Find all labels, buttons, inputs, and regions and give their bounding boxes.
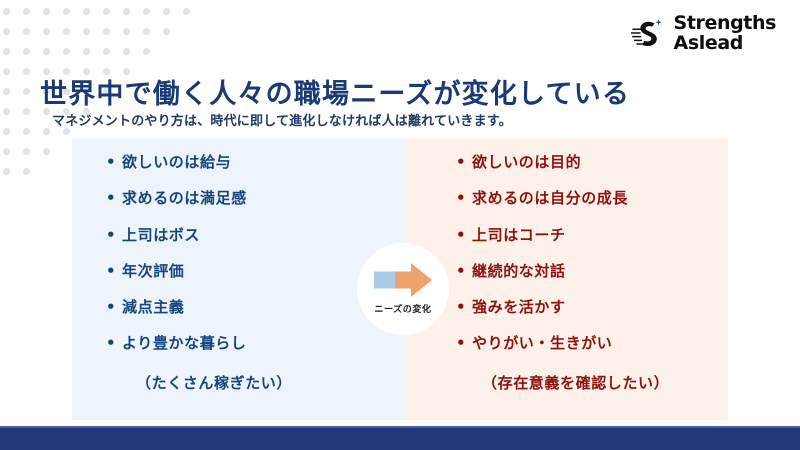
grid-dot xyxy=(23,68,30,75)
grid-dot xyxy=(43,148,50,155)
list-item: •やりがい・生きがい xyxy=(456,335,728,352)
brand-wordmark: Strengths Aslead xyxy=(674,14,776,54)
right-arrow-icon xyxy=(374,263,432,297)
grid-dot xyxy=(163,8,170,15)
list-item-label: 減点主義 xyxy=(122,299,184,316)
grid-dot xyxy=(123,8,130,15)
grid-dot xyxy=(63,128,70,135)
grid-dot xyxy=(23,168,30,175)
grid-dot xyxy=(3,28,10,35)
grid-dot xyxy=(3,88,10,95)
list-item-label: 上司はコーチ xyxy=(472,227,566,244)
bullet-dot-icon: • xyxy=(456,154,472,171)
list-item: •継続的な対話 xyxy=(456,263,728,280)
list-item: •欲しいのは給与 xyxy=(106,154,406,171)
brand-name-line2: Aslead xyxy=(674,34,776,54)
panel-after: •欲しいのは目的•求めるのは自分の成長•上司はコーチ•継続的な対話•強みを活かす… xyxy=(406,138,728,420)
bullet-dot-icon: • xyxy=(456,227,472,244)
grid-dot xyxy=(163,28,170,35)
grid-dot xyxy=(23,88,30,95)
grid-dot xyxy=(23,48,30,55)
list-item: •より豊かな暮らし xyxy=(106,335,406,352)
grid-dot xyxy=(123,28,130,35)
list-item-label: 欲しいのは給与 xyxy=(122,154,231,171)
grid-dot xyxy=(3,148,10,155)
bullet-dot-icon: • xyxy=(106,263,122,280)
list-item: •求めるのは満足感 xyxy=(106,190,406,207)
grid-dot xyxy=(23,128,30,135)
page-title: 世界中で働く人々の職場ニーズが変化している xyxy=(40,72,630,111)
bullet-dot-icon: • xyxy=(106,335,122,352)
grid-dot xyxy=(103,48,110,55)
slide-canvas: Strengths Aslead 世界中で働く人々の職場ニーズが変化している マ… xyxy=(0,0,800,450)
grid-dot xyxy=(3,48,10,55)
bullet-dot-icon: • xyxy=(456,335,472,352)
grid-dot xyxy=(43,48,50,55)
grid-dot xyxy=(23,108,30,115)
grid-dot xyxy=(23,148,30,155)
list-item-label: 継続的な対話 xyxy=(472,263,566,280)
grid-dot xyxy=(3,108,10,115)
grid-dot xyxy=(43,28,50,35)
list-item: •上司はコーチ xyxy=(456,227,728,244)
list-item-label: やりがい・生きがい xyxy=(472,335,612,352)
bullet-dot-icon: • xyxy=(456,263,472,280)
grid-dot xyxy=(3,128,10,135)
grid-dot xyxy=(3,68,10,75)
list-item-label: より豊かな暮らし xyxy=(122,335,247,352)
grid-dot xyxy=(63,48,70,55)
after-bullet-list: •欲しいのは目的•求めるのは自分の成長•上司はコーチ•継続的な対話•強みを活かす… xyxy=(456,154,728,353)
panel-before: •欲しいのは給与•求めるのは満足感•上司はボス•年次評価•減点主義•より豊かな暮… xyxy=(72,138,406,420)
grid-dot xyxy=(143,48,150,55)
grid-dot xyxy=(23,8,30,15)
grid-dot xyxy=(143,8,150,15)
brand-logo: Strengths Aslead xyxy=(629,14,776,54)
bullet-dot-icon: • xyxy=(106,227,122,244)
grid-dot xyxy=(143,28,150,35)
list-item: •欲しいのは目的 xyxy=(456,154,728,171)
page-subtitle: マネジメントのやり方は、時代に即して進化しなければ人は離れていきます。 xyxy=(52,110,512,129)
bullet-dot-icon: • xyxy=(106,190,122,207)
list-item: •求めるのは自分の成長 xyxy=(456,190,728,207)
list-item: •上司はボス xyxy=(106,227,406,244)
grid-dot xyxy=(3,168,10,175)
strengths-s-mark-icon xyxy=(629,15,667,53)
grid-dot xyxy=(23,28,30,35)
footer-bar xyxy=(0,428,800,450)
list-item-label: 求めるのは自分の成長 xyxy=(472,190,628,207)
grid-dot xyxy=(83,8,90,15)
list-item-label: 上司はボス xyxy=(122,227,200,244)
grid-dot xyxy=(83,28,90,35)
bullet-dot-icon: • xyxy=(106,299,122,316)
grid-dot xyxy=(103,28,110,35)
list-item: •強みを活かす xyxy=(456,299,728,316)
grid-dot xyxy=(83,48,90,55)
list-item-label: 年次評価 xyxy=(122,263,184,280)
brand-name-line1: Strengths xyxy=(674,14,776,34)
before-bullet-list: •欲しいのは給与•求めるのは満足感•上司はボス•年次評価•減点主義•より豊かな暮… xyxy=(106,154,406,353)
grid-dot xyxy=(123,48,130,55)
grid-dot xyxy=(43,128,50,135)
after-tagline: （存在意義を確認したい） xyxy=(456,372,728,393)
grid-dot xyxy=(63,28,70,35)
bullet-dot-icon: • xyxy=(456,299,472,316)
center-change-badge: ニーズの変化 xyxy=(357,243,449,335)
grid-dot xyxy=(3,8,10,15)
list-item-label: 求めるのは満足感 xyxy=(122,190,247,207)
grid-dot xyxy=(63,8,70,15)
list-item-label: 欲しいのは目的 xyxy=(472,154,581,171)
grid-dot xyxy=(103,8,110,15)
before-tagline: （たくさん稼ぎたい） xyxy=(106,372,406,393)
grid-dot xyxy=(43,8,50,15)
center-badge-label: ニーズの変化 xyxy=(374,302,431,315)
grid-dot xyxy=(183,8,190,15)
bullet-dot-icon: • xyxy=(106,154,122,171)
list-item-label: 強みを活かす xyxy=(472,299,566,316)
bullet-dot-icon: • xyxy=(456,190,472,207)
